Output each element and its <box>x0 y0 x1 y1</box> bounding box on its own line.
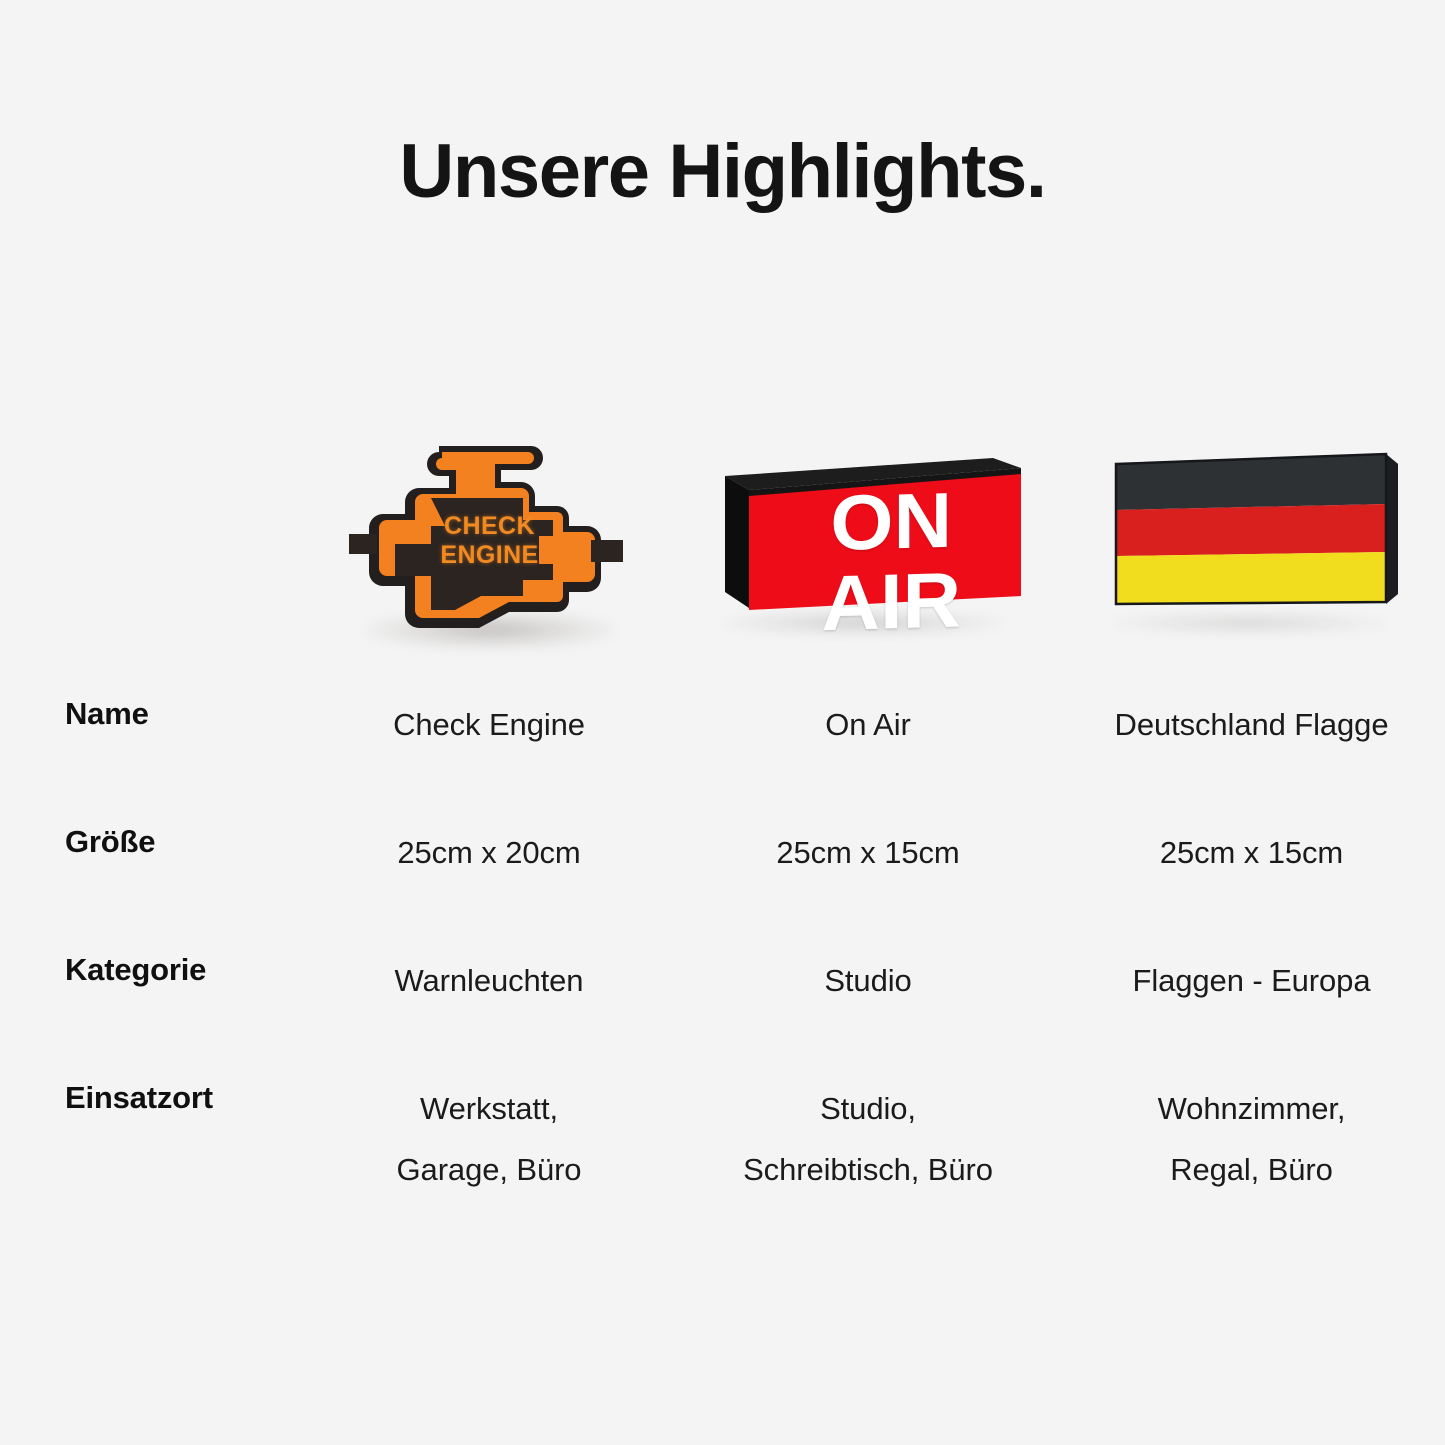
germany-flag-lightbox-icon <box>1102 442 1402 638</box>
table-row-kategorie: Kategorie Warnleuchten Studio Flaggen - … <box>0 950 1445 1078</box>
cell-kategorie-check-engine: Warnleuchten <box>300 950 678 1011</box>
cell-groesse-on-air: 25cm x 15cm <box>678 822 1058 883</box>
cell-einsatzort-on-air: Studio, Schreibtisch, Büro <box>678 1078 1058 1200</box>
cell-einsatzort-deutschland-flagge: Wohnzimmer, Regal, Büro <box>1058 1078 1445 1200</box>
highlights-page: Unsere Highlights. <box>0 0 1445 1445</box>
cell-einsatzort-check-engine: Werkstatt, Garage, Büro <box>300 1078 678 1200</box>
table-row-name: Name Check Engine On Air Deutschland Fla… <box>0 694 1445 822</box>
cell-kategorie-on-air: Studio <box>678 950 1058 1011</box>
page-title: Unsere Highlights. <box>0 132 1445 212</box>
product-image-deutschland-flagge[interactable] <box>1058 412 1445 672</box>
cell-groesse-deutschland-flagge: 25cm x 15cm <box>1058 822 1445 883</box>
cell-kategorie-deutschland-flagge: Flaggen - Europa <box>1058 950 1445 1011</box>
cell-name-check-engine: Check Engine <box>300 694 678 755</box>
row-label-einsatzort: Einsatzort <box>0 1078 300 1118</box>
check-engine-lamp-icon: CHECK ENGINE <box>339 440 639 658</box>
product-image-on-air[interactable]: ON AIR <box>678 412 1058 672</box>
on-air-lightbox-icon: ON AIR <box>715 442 1021 638</box>
cell-name-deutschland-flagge: Deutschland Flagge <box>1058 694 1445 755</box>
product-image-check-engine[interactable]: CHECK ENGINE <box>300 412 678 672</box>
row-label-name: Name <box>0 694 300 734</box>
row-label-groesse: Größe <box>0 822 300 862</box>
cell-name-on-air: On Air <box>678 694 1058 755</box>
on-air-label: ON AIR <box>755 478 1027 645</box>
product-image-row: CHECK ENGINE ON AIR <box>0 412 1445 672</box>
check-engine-label: CHECK ENGINE <box>417 512 562 570</box>
row-label-kategorie: Kategorie <box>0 950 300 990</box>
germany-flag-box-svg <box>1102 442 1402 624</box>
spec-table: Name Check Engine On Air Deutschland Fla… <box>0 694 1445 1228</box>
table-row-groesse: Größe 25cm x 20cm 25cm x 15cm 25cm x 15c… <box>0 822 1445 950</box>
cell-groesse-check-engine: 25cm x 20cm <box>300 822 678 883</box>
product-row-label-spacer <box>0 412 300 672</box>
table-row-einsatzort: Einsatzort Werkstatt, Garage, Büro Studi… <box>0 1078 1445 1228</box>
